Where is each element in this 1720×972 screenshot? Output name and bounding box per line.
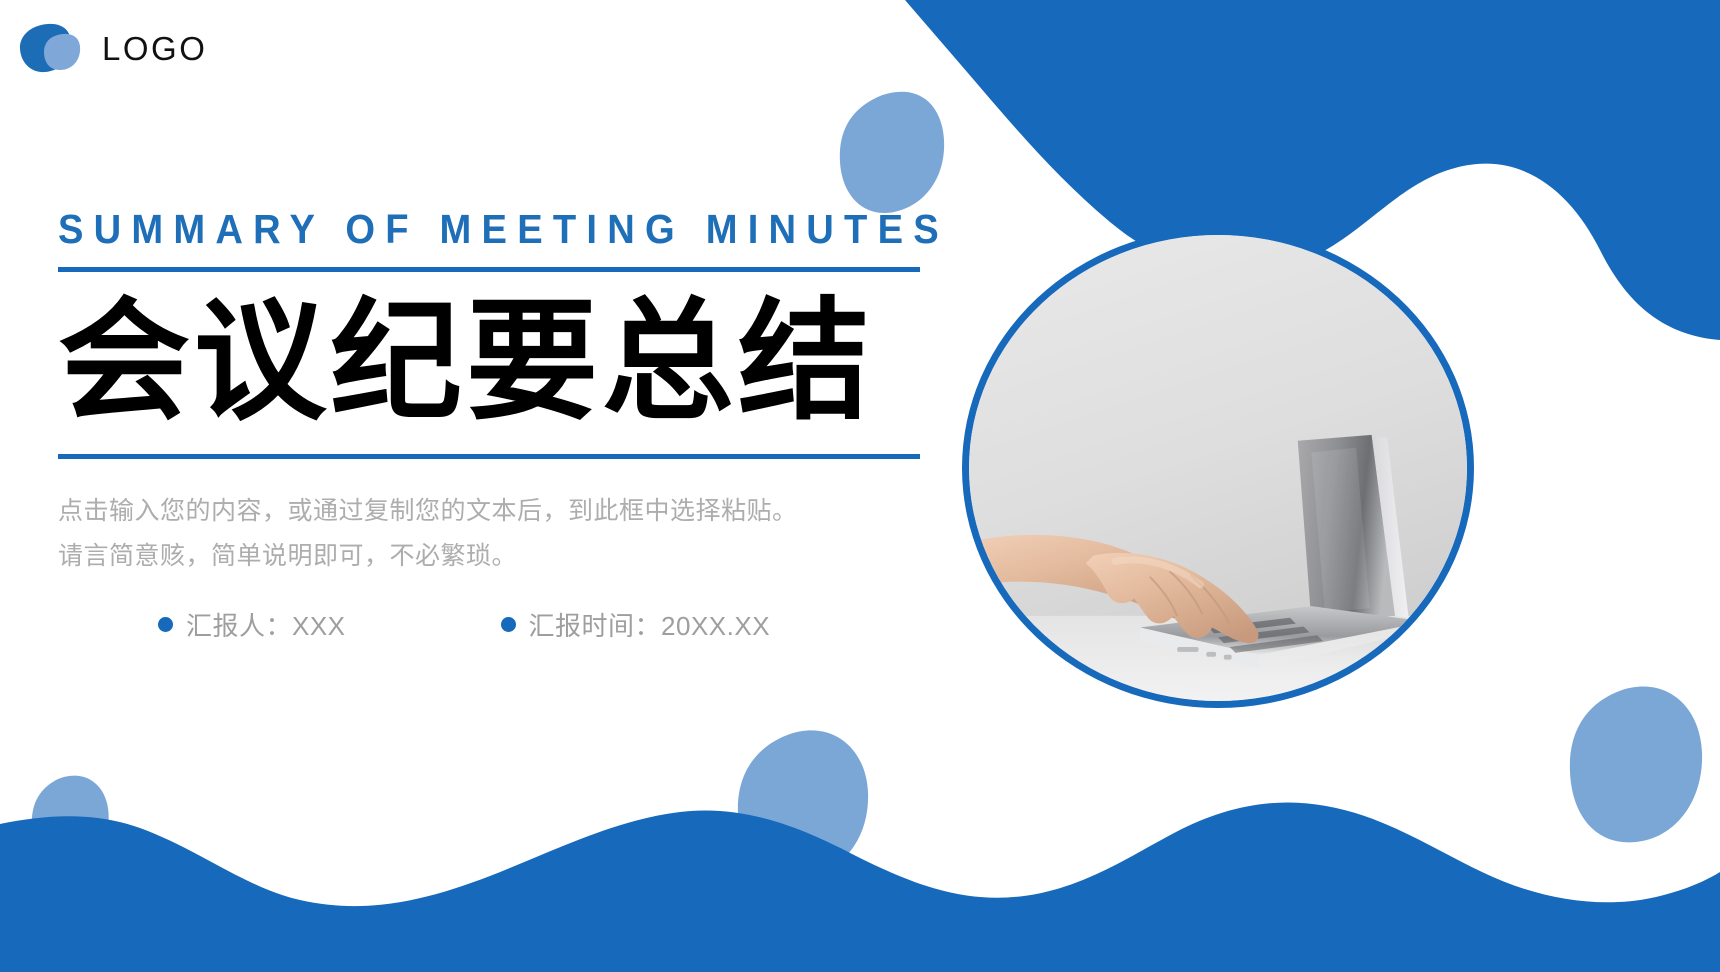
light-blue-blob-bottom-left [32, 776, 109, 867]
logo-mark-icon [18, 22, 88, 74]
meta-item-presenter: 汇报人：XXX [158, 606, 346, 643]
light-blue-blob-bottom-center [738, 730, 868, 878]
divider-bottom [58, 454, 920, 459]
meta-row: 汇报人：XXX 汇报时间：20XX.XX [58, 606, 938, 643]
meta-presenter-label: 汇报人：XXX [186, 606, 346, 643]
light-blue-blob-top [840, 92, 944, 213]
photo-circle-frame [962, 228, 1474, 708]
logo-blob-light [44, 34, 80, 70]
meta-item-date: 汇报时间：20XX.XX [501, 606, 771, 643]
english-subtitle: SUMMARY OF MEETING MINUTES [58, 206, 876, 253]
bottom-blue-wave [0, 802, 1720, 972]
title-block: SUMMARY OF MEETING MINUTES 会议纪要总结 点击输入您的… [58, 206, 938, 643]
logo[interactable]: LOGO [18, 22, 207, 74]
bullet-dot-icon [501, 617, 516, 632]
light-blue-blob-right [1570, 687, 1702, 843]
body-text: 点击输入您的内容，或通过复制您的文本后，到此框中选择粘贴。 请言简意赅，简单说明… [58, 489, 920, 580]
body-text-line-2: 请言简意赅，简单说明即可，不必繁琐。 [58, 534, 920, 580]
meta-date-label: 汇报时间：20XX.XX [529, 606, 771, 643]
body-text-line-1: 点击输入您的内容，或通过复制您的文本后，到此框中选择粘贴。 [58, 489, 920, 535]
divider-top [58, 267, 920, 272]
logo-text: LOGO [102, 32, 207, 65]
slide-canvas: LOGO SUMMARY OF MEETING MINUTES 会议纪要总结 点… [0, 0, 1720, 972]
photo-laptop-typing [969, 235, 1467, 701]
page-title: 会议纪要总结 [58, 288, 938, 436]
bullet-dot-icon [158, 617, 173, 632]
